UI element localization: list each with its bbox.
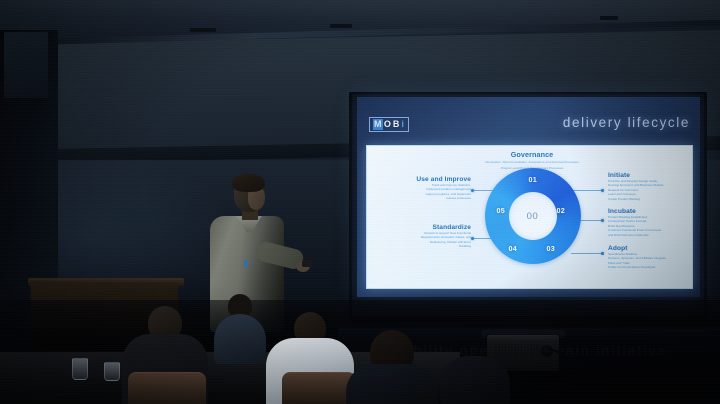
block-title: Incubate [608, 208, 700, 215]
connector-dot-incubate [601, 219, 604, 222]
block-title: Adopt [608, 245, 700, 252]
block-line: and Draft Reference Materials [608, 233, 700, 237]
audience-member-standing [214, 294, 266, 360]
slide-content-card: Governance Nomination, Recommendation, A… [366, 145, 693, 289]
block-line: Public Communications Developed [608, 265, 700, 269]
conference-room-photo: MOBi delivery lifecycle Governance Nomin… [0, 0, 720, 404]
audience-member [346, 330, 438, 404]
connector-dot-standardize [471, 237, 474, 240]
slide-title: delivery lifecycle [563, 115, 690, 130]
audience-chair [282, 372, 356, 404]
donut-segment-04: 04 [509, 244, 517, 253]
ceiling-vent [330, 24, 352, 28]
ceiling-vent [190, 28, 216, 32]
mobi-logo-letter-b: B [392, 119, 401, 130]
audience-body [214, 314, 266, 364]
governance-title: Governance [447, 150, 617, 159]
audience-member [440, 356, 510, 404]
mobi-logo-letter-m: M [373, 119, 383, 130]
mobi-logo: MOBi [367, 117, 411, 132]
ceiling-vent [600, 16, 618, 20]
audience-body [440, 356, 510, 404]
presentation-slide: MOBi delivery lifecycle Governance Nomin… [357, 97, 700, 297]
wall-panel [4, 32, 48, 98]
presenter-clicker [302, 260, 313, 267]
block-adopt: Adopt Specification Ratified, Partners, … [608, 245, 700, 270]
block-line: Handling [367, 244, 471, 248]
water-glass [104, 362, 120, 381]
governance-line: Nomination, Recommendation, Acceptance a… [447, 160, 617, 165]
mobi-logo-frame: MOBi [369, 117, 409, 132]
presenter-hair [232, 174, 265, 192]
block-line: release processes [367, 196, 471, 200]
mobi-logo-letter-i: i [400, 119, 405, 130]
connector-dot-adopt [601, 252, 604, 255]
block-title: Standardize [367, 224, 471, 231]
block-incubate: Incubate Product Backlog Established, Co… [608, 208, 700, 237]
block-use-and-improve: Use and Improve Track and Improve Statis… [367, 176, 471, 201]
block-standardize: Standardize Rework to support New Functi… [367, 224, 471, 249]
donut-segment-02: 02 [557, 206, 565, 215]
block-title: Initiate [608, 172, 700, 179]
connector-dot-use-improve [471, 189, 474, 192]
mobi-logo-letter-o: O [383, 119, 392, 130]
audience-body [346, 364, 438, 404]
connector-dot-initiate [601, 189, 604, 192]
slide-header: MOBi delivery lifecycle [357, 97, 700, 144]
donut-segment-01: 01 [529, 175, 537, 184]
block-initiate: Initiate Prioritize and Develop Design G… [608, 172, 700, 201]
water-glass [72, 358, 88, 380]
block-title: Use and Improve [367, 176, 471, 183]
donut-segment-03: 03 [547, 244, 555, 253]
block-line: Create Product Backlog [608, 197, 700, 201]
donut-segment-05: 05 [497, 206, 505, 215]
lifecycle-donut-chart: 00 01 02 03 04 05 [485, 168, 581, 264]
audience-chair [128, 372, 206, 404]
presenter-lapel-mic [244, 260, 248, 267]
